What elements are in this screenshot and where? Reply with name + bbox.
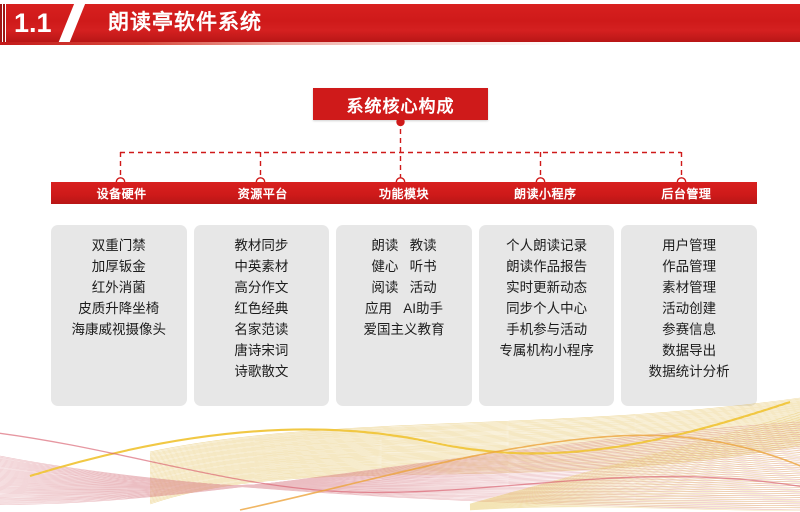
header-left-rule <box>0 4 7 42</box>
decorative-wave-graphic <box>0 392 800 512</box>
list-item: 素材管理 <box>662 277 716 298</box>
list-item: 作品管理 <box>662 256 716 277</box>
section-number: 1.1 <box>14 5 52 41</box>
category-label: 设备硬件 <box>97 185 147 202</box>
page-title: 朗读亭软件系统 <box>108 4 262 42</box>
list-item: 唐诗宋词 <box>234 340 288 361</box>
list-item: 用户管理 <box>662 235 716 256</box>
list-item: 参赛信息 <box>662 319 716 340</box>
wave-pink-fan-icon <box>0 422 800 510</box>
list-item: 同步个人中心 <box>506 298 587 319</box>
list-item: 红色经典 <box>234 298 288 319</box>
list-item: 皮质升降坐椅 <box>78 298 159 319</box>
list-item: 活动创建 <box>662 298 716 319</box>
list-item: 数据统计分析 <box>649 361 730 382</box>
wave-gold-fan-icon <box>150 398 800 504</box>
content-box-0: 双重门禁 加厚钣金 红外消菌 皮质升降坐椅 海康威视摄像头 <box>51 225 187 406</box>
list-item: 个人朗读记录 <box>506 235 587 256</box>
category-label: 朗读小程序 <box>514 185 577 202</box>
category-item-3[interactable]: 朗读小程序 <box>475 182 616 204</box>
list-item: 教材同步 <box>234 235 288 256</box>
wave-orange-main <box>240 435 800 510</box>
list-item: 海康威视摄像头 <box>72 319 167 340</box>
list-item: 爱国主义教育 <box>363 319 444 340</box>
list-item: 阅读 活动 <box>371 277 436 298</box>
core-title-text: 系统核心构成 <box>347 92 455 117</box>
category-label: 功能模块 <box>379 185 429 202</box>
list-item: 加厚钣金 <box>92 256 146 277</box>
header-underline <box>0 42 800 45</box>
content-box-2: 朗读 教读 健心 听书 阅读 活动 应用 AI助手 爱国主义教育 <box>336 225 472 406</box>
category-label: 资源平台 <box>238 185 288 202</box>
list-item: 诗歌散文 <box>234 361 288 382</box>
content-box-3: 个人朗读记录 朗读作品报告 实时更新动态 同步个人中心 手机参与活动 专属机构小… <box>479 225 615 406</box>
list-item: 实时更新动态 <box>506 277 587 298</box>
content-box-4: 用户管理 作品管理 素材管理 活动创建 参赛信息 数据导出 数据统计分析 <box>621 225 757 406</box>
category-bar: 设备硬件 资源平台 功能模块 朗读小程序 后台管理 <box>51 182 757 204</box>
list-item: 名家范读 <box>234 319 288 340</box>
list-item: 数据导出 <box>662 340 716 361</box>
content-columns: 双重门禁 加厚钣金 红外消菌 皮质升降坐椅 海康威视摄像头 教材同步 中英素材 … <box>51 225 757 406</box>
list-item: 手机参与活动 <box>506 319 587 340</box>
wave-pink-main <box>0 432 800 492</box>
list-item: 双重门禁 <box>92 235 146 256</box>
wave-gold-main <box>30 402 790 476</box>
category-item-0[interactable]: 设备硬件 <box>51 182 192 204</box>
list-item: 中英素材 <box>234 256 288 277</box>
list-item: 应用 AI助手 <box>365 298 443 319</box>
list-item: 红外消菌 <box>92 277 146 298</box>
wave-gold-fan-secondary-icon <box>470 412 800 510</box>
list-item: 健心 听书 <box>371 256 436 277</box>
list-item: 高分作文 <box>234 277 288 298</box>
category-item-2[interactable]: 功能模块 <box>333 182 474 204</box>
content-box-1: 教材同步 中英素材 高分作文 红色经典 名家范读 唐诗宋词 诗歌散文 <box>194 225 330 406</box>
category-label: 后台管理 <box>661 185 711 202</box>
list-item: 朗读作品报告 <box>506 256 587 277</box>
list-item: 朗读 教读 <box>371 235 436 256</box>
category-item-4[interactable]: 后台管理 <box>616 182 757 204</box>
list-item: 专属机构小程序 <box>499 340 594 361</box>
category-item-1[interactable]: 资源平台 <box>192 182 333 204</box>
page-header-bar: 1.1 朗读亭软件系统 <box>0 4 800 42</box>
core-title-box: 系统核心构成 <box>313 88 488 120</box>
